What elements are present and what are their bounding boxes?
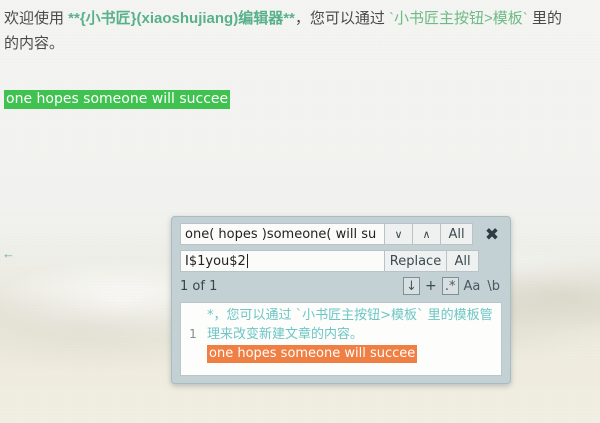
preview-match-highlight: one hopes someone will succee bbox=[207, 345, 417, 363]
replace-row: I$1you$2 Replace All bbox=[180, 250, 502, 272]
document-line-2: 的内容。 bbox=[4, 31, 600, 56]
find-all-button[interactable]: All bbox=[441, 223, 473, 245]
preview-content: *，您可以通过 `小书匠主按钮>模板` 里的模板管 理来改变新建文章的内容。 o… bbox=[205, 303, 501, 375]
replace-input-value: I$1you$2 bbox=[185, 254, 246, 269]
preview-line-2: 理来改变新建文章的内容。 bbox=[207, 325, 499, 344]
close-icon[interactable]: ✖ bbox=[482, 224, 502, 244]
doc-token-plain-3: 里的 bbox=[528, 10, 562, 27]
match-case-icon[interactable]: Aa bbox=[462, 277, 483, 295]
selected-text-highlight: one hopes someone will succee bbox=[4, 90, 230, 109]
plus-separator-icon: + bbox=[423, 277, 439, 295]
replace-all-button[interactable]: All bbox=[447, 250, 479, 272]
preview-line-1: *，您可以通过 `小书匠主按钮>模板` 里的模板管 bbox=[207, 306, 499, 325]
search-in-selection-icon[interactable]: ↓ bbox=[403, 277, 420, 295]
document-text-area[interactable]: 欢迎使用 **{小书匠}(xiaoshujiang)编辑器**，您可以通过 `小… bbox=[0, 0, 600, 56]
document-line-1: 欢迎使用 **{小书匠}(xiaoshujiang)编辑器**，您可以通过 `小… bbox=[4, 6, 600, 31]
whole-word-icon[interactable]: \b bbox=[485, 277, 502, 295]
status-row: 1 of 1 ↓ + .* Aa \b bbox=[180, 276, 502, 296]
find-input[interactable]: one( hopes )someone( will su bbox=[180, 223, 385, 245]
doc-token-code: `小书匠主按钮>模板` bbox=[389, 10, 528, 27]
match-preview-panel: 1 *，您可以通过 `小书匠主按钮>模板` 里的模板管 理来改变新建文章的内容。… bbox=[180, 302, 502, 376]
doc-token-plain-2: ，您可以通过 bbox=[295, 10, 389, 27]
text-caret bbox=[247, 254, 248, 268]
replace-button[interactable]: Replace bbox=[385, 250, 447, 272]
find-previous-button[interactable]: ∧ bbox=[413, 223, 441, 245]
doc-token-bold: **{小书匠}(xiaoshujiang)编辑器** bbox=[68, 10, 295, 27]
find-next-button[interactable]: ∨ bbox=[385, 223, 413, 245]
search-options-group: ↓ + .* Aa \b bbox=[403, 277, 502, 295]
left-gutter-marker-icon: ← bbox=[2, 248, 14, 260]
preview-match-line: one hopes someone will succee bbox=[207, 344, 499, 362]
use-regex-icon[interactable]: .* bbox=[442, 277, 459, 295]
find-row: one( hopes )someone( will su ∨ ∧ All ✖ bbox=[180, 223, 502, 245]
find-replace-widget[interactable]: one( hopes )someone( will su ∨ ∧ All ✖ I… bbox=[171, 216, 511, 384]
replace-input[interactable]: I$1you$2 bbox=[180, 250, 385, 272]
match-count-label: 1 of 1 bbox=[180, 279, 217, 294]
preview-line-number: 1 bbox=[181, 303, 205, 375]
document-selection-line: one hopes someone will succee bbox=[4, 88, 230, 110]
doc-token-plain-1: 欢迎使用 bbox=[4, 10, 68, 27]
